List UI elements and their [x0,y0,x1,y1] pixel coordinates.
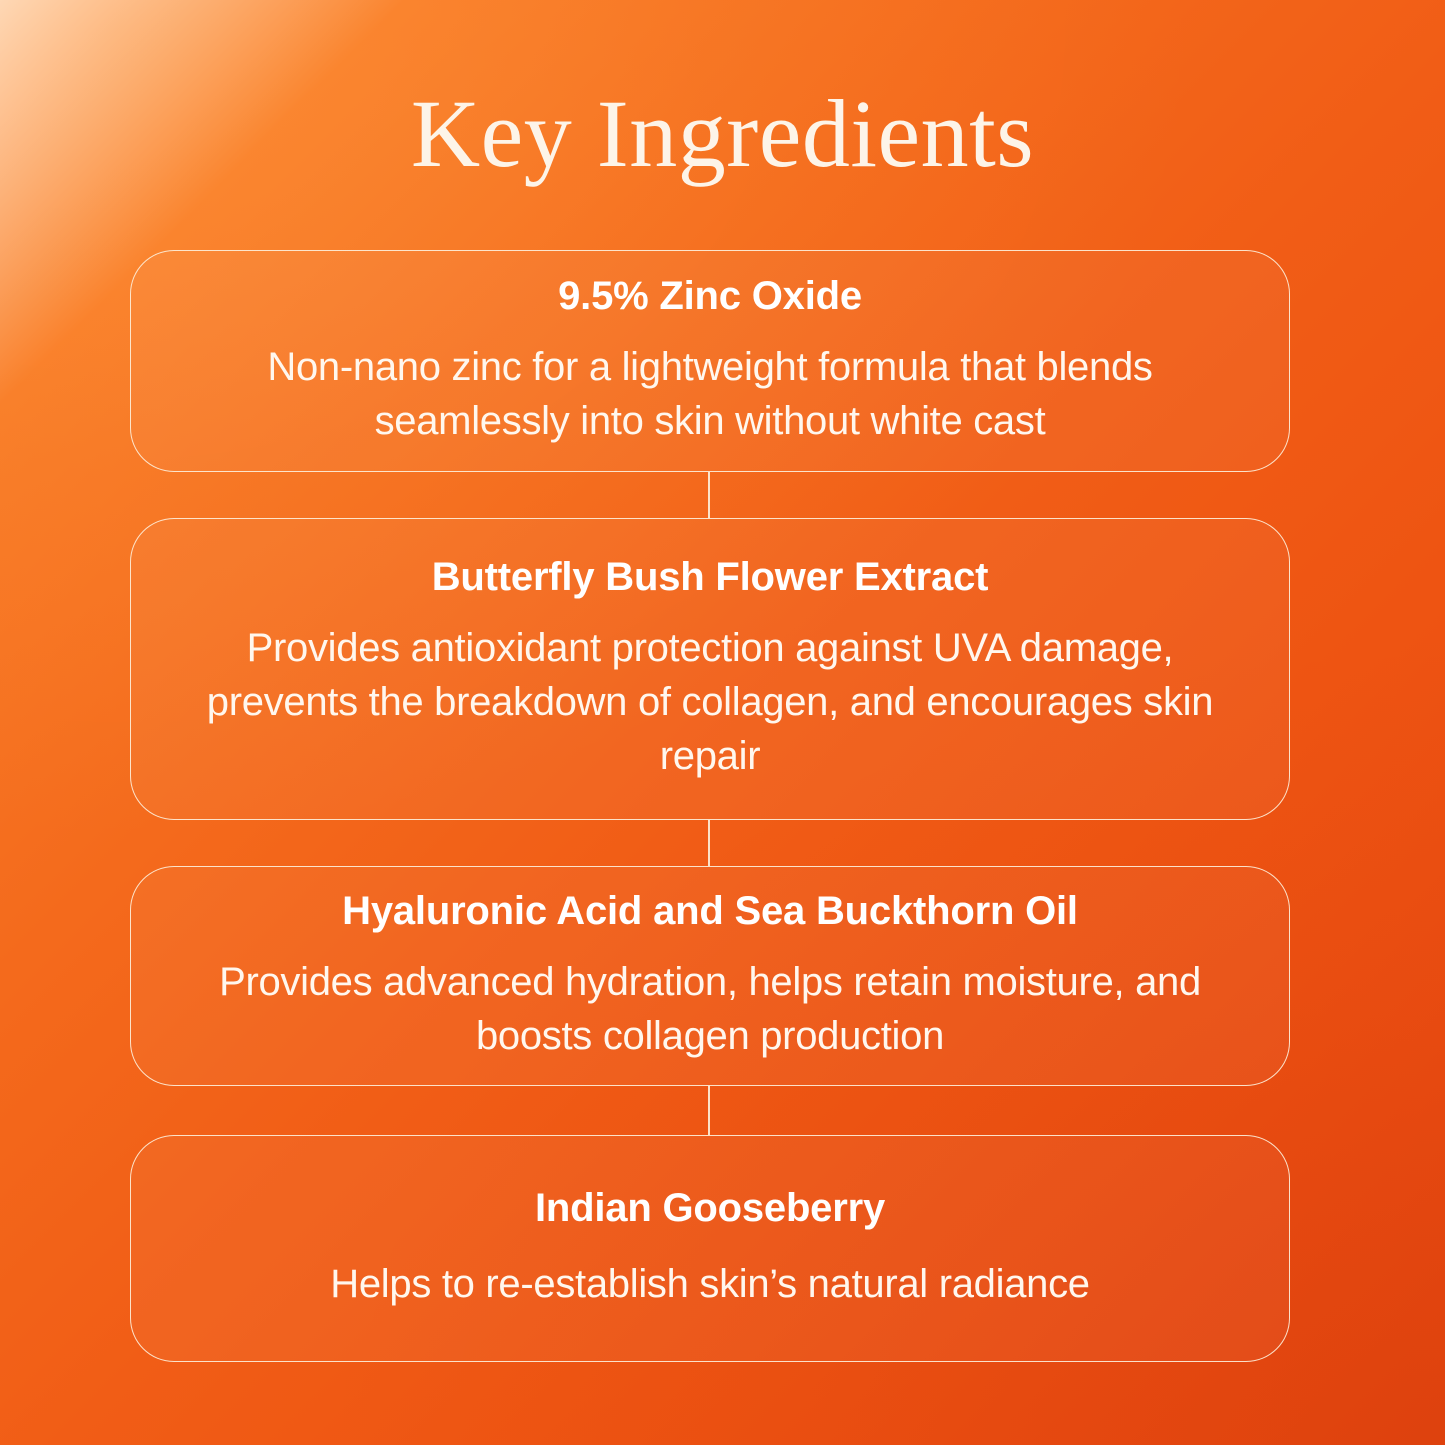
card-connector-line-1 [708,472,710,518]
ingredient-card-butterfly-bush-flower-extract: Butterfly Bush Flower Extract Provides a… [130,518,1290,820]
ingredient-name: Hyaluronic Acid and Sea Buckthorn Oil [342,889,1078,934]
ingredient-description: Non-nano zinc for a lightweight formula … [205,340,1215,448]
ingredient-card-hyaluronic-acid-sea-buckthorn-oil: Hyaluronic Acid and Sea Buckthorn Oil Pr… [130,866,1290,1086]
ingredient-card-zinc-oxide: 9.5% Zinc Oxide Non-nano zinc for a ligh… [130,250,1290,472]
key-ingredients-panel: Key Ingredients 9.5% Zinc Oxide Non-nano… [0,0,1445,1445]
ingredient-name: Indian Gooseberry [535,1186,885,1231]
ingredient-card-indian-gooseberry: Indian Gooseberry Helps to re-establish … [130,1135,1290,1362]
page-title: Key Ingredients [0,84,1445,185]
ingredient-description: Provides advanced hydration, helps retai… [205,955,1215,1063]
ingredient-name: Butterfly Bush Flower Extract [432,555,989,600]
ingredient-name: 9.5% Zinc Oxide [558,274,862,319]
ingredient-description: Provides antioxidant protection against … [205,621,1215,783]
card-connector-line-3 [708,1086,710,1135]
card-connector-line-2 [708,820,710,866]
ingredient-description: Helps to re-establish skin’s natural rad… [330,1257,1090,1311]
